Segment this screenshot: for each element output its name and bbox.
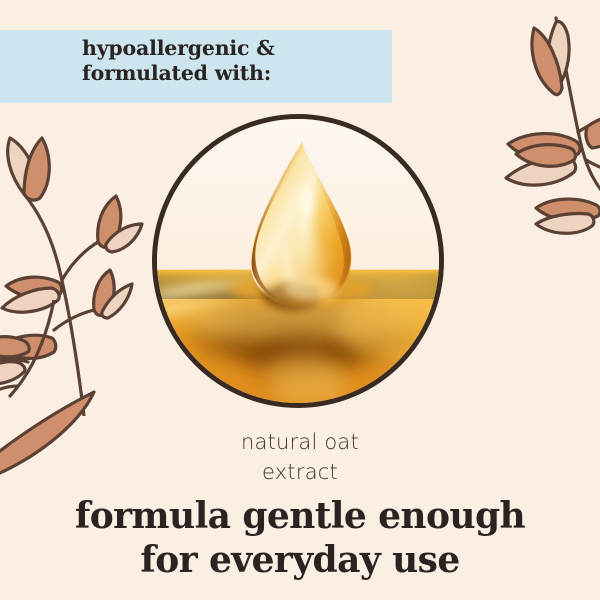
- circle-ring-border: [152, 114, 444, 408]
- oat-sprig-right-icon: [474, 8, 600, 243]
- oat-sprig-left-icon: [0, 116, 156, 416]
- ingredient-caption: natural oat extract: [0, 427, 600, 487]
- ingredient-image-circle: [152, 114, 444, 408]
- oil-illustration: [157, 119, 439, 403]
- headline-text: hypoallergenic & formulated with:: [82, 36, 382, 86]
- tagline-text: formula gentle enough for everyday use: [0, 494, 600, 582]
- product-callout-card: hypoallergenic & formulated with:: [0, 0, 600, 600]
- oil-droplet-image: [157, 119, 439, 403]
